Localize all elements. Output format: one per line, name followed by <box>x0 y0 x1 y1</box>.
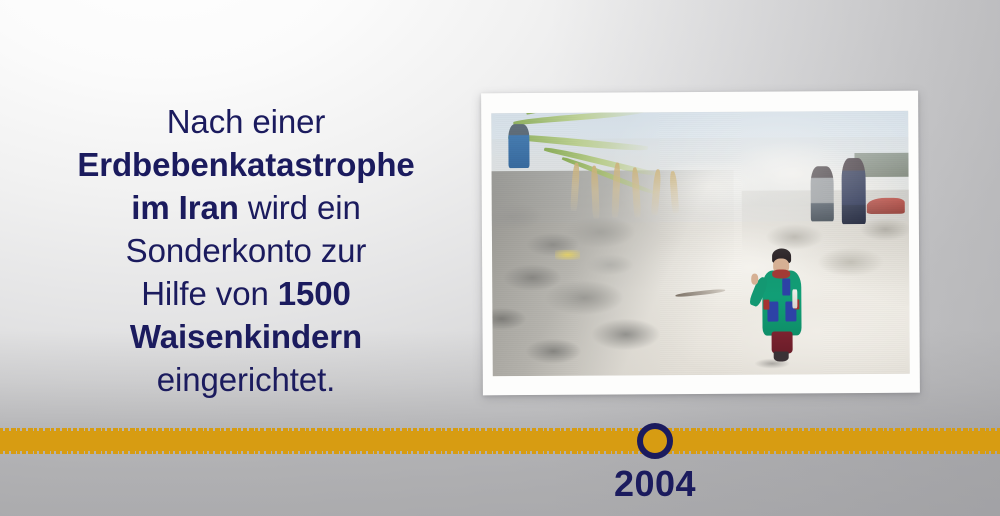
photo-image <box>491 111 910 377</box>
caption-line-4: Sonderkonto zur <box>36 229 456 272</box>
caption-text-block: Nach einer Erdbebenkatastrophe im Iran w… <box>36 100 456 401</box>
slide-canvas: Nach einer Erdbebenkatastrophe im Iran w… <box>0 0 1000 516</box>
caption-line-1: Nach einer <box>36 100 456 143</box>
timeline-marker-icon <box>637 423 673 459</box>
timeline-bar <box>0 431 1000 451</box>
caption-line-6: Waisenkindern <box>36 315 456 358</box>
photo-frame <box>481 91 920 396</box>
caption-line-2: Erdbebenkatastrophe <box>36 143 456 186</box>
caption-line-7: eingerichtet. <box>36 358 456 401</box>
photo-scene <box>491 111 910 377</box>
photo-grain-overlay <box>491 111 910 377</box>
timeline-year-label: 2004 <box>585 463 725 505</box>
caption-line-5: Hilfe von 1500 <box>36 272 456 315</box>
caption-line-3: im Iran wird ein <box>36 186 456 229</box>
